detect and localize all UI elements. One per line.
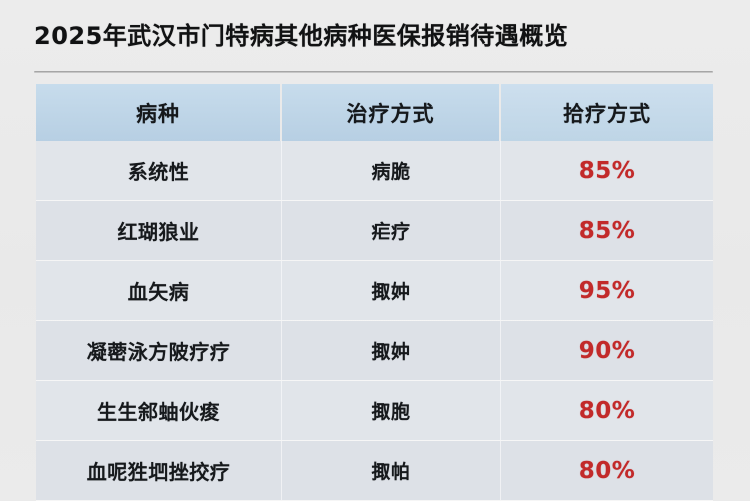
benefits-table: 病种 治疗方式 拾疗方式 系统性 病脆 85% 红瑚狼业 xyxy=(36,84,713,501)
table-row: 凝蔤泳方陂疗疗 掫妕 90% xyxy=(36,321,713,381)
cell-disease-label: 血矢病 xyxy=(128,276,190,305)
cell-disease: 红瑚狼业 xyxy=(36,201,282,260)
cell-treatment-label: 掫胞 xyxy=(371,397,410,424)
cell-rate-value: 95% xyxy=(579,278,636,304)
cell-rate-value: 85% xyxy=(579,218,636,244)
cell-treatment: 病脆 xyxy=(282,141,501,200)
cell-rate-value: 90% xyxy=(579,338,636,364)
cell-rate: 90% xyxy=(501,321,713,380)
table-row: 系统性 病脆 85% xyxy=(36,141,713,201)
cell-disease: 血矢病 xyxy=(36,261,282,320)
cell-disease: 生生䣄蚰伙痠 xyxy=(36,381,282,440)
cell-treatment: 掫帕 xyxy=(282,441,501,500)
cell-treatment: 掫妕 xyxy=(282,261,501,320)
cell-treatment: 掫妕 xyxy=(282,321,501,380)
cell-treatment: 疟疗 xyxy=(282,201,501,260)
column-header-rate: 拾疗方式 xyxy=(501,84,713,141)
column-header-disease-label: 病种 xyxy=(136,98,180,128)
page-title-container: 2025年武汉市门特病其他病种医保报销待遇概览 xyxy=(34,14,724,58)
table-row: 红瑚狼业 疟疗 85% xyxy=(36,201,713,261)
cell-disease: 系统性 xyxy=(36,141,282,200)
column-header-treatment: 治疗方式 xyxy=(282,84,501,141)
cell-rate: 80% xyxy=(501,381,713,440)
cell-rate-value: 85% xyxy=(579,158,636,184)
column-header-treatment-label: 治疗方式 xyxy=(347,98,435,128)
cell-disease-label: 凝蔤泳方陂疗疗 xyxy=(87,336,231,365)
table-header-row: 病种 治疗方式 拾疗方式 xyxy=(36,84,713,141)
cell-treatment-label: 病脆 xyxy=(371,157,410,184)
column-header-rate-label: 拾疗方式 xyxy=(563,98,651,128)
cell-treatment: 掫胞 xyxy=(282,381,501,440)
cell-disease-label: 血呢狌垇挫挍疗 xyxy=(87,456,231,485)
cell-treatment-label: 疟疗 xyxy=(371,217,410,244)
cell-disease-label: 系统性 xyxy=(128,156,190,185)
cell-disease: 血呢狌垇挫挍疗 xyxy=(36,441,282,500)
column-header-disease: 病种 xyxy=(36,84,282,141)
cell-treatment-label: 掫妕 xyxy=(371,277,410,304)
table-row: 血矢病 掫妕 95% xyxy=(36,261,713,321)
cell-disease-label: 红瑚狼业 xyxy=(118,216,200,245)
cell-treatment-label: 掫帕 xyxy=(371,457,410,484)
cell-rate: 85% xyxy=(501,201,713,260)
cell-rate: 80% xyxy=(501,441,713,500)
table-row: 血呢狌垇挫挍疗 掫帕 80% xyxy=(36,441,713,501)
cell-rate: 95% xyxy=(501,261,713,320)
cell-rate-value: 80% xyxy=(579,458,636,484)
cell-rate-value: 80% xyxy=(579,398,636,424)
cell-rate: 85% xyxy=(501,141,713,200)
cell-treatment-label: 掫妕 xyxy=(371,337,410,364)
table-row: 生生䣄蚰伙痠 掫胞 80% xyxy=(36,381,713,441)
title-divider xyxy=(34,71,713,73)
cell-disease: 凝蔤泳方陂疗疗 xyxy=(36,321,282,380)
page-title: 2025年武汉市门特病其他病种医保报销待遇概览 xyxy=(34,23,568,49)
cell-disease-label: 生生䣄蚰伙痠 xyxy=(97,396,220,425)
page-root: 2025年武汉市门特病其他病种医保报销待遇概览 病种 治疗方式 拾疗方式 系统性… xyxy=(0,0,750,500)
